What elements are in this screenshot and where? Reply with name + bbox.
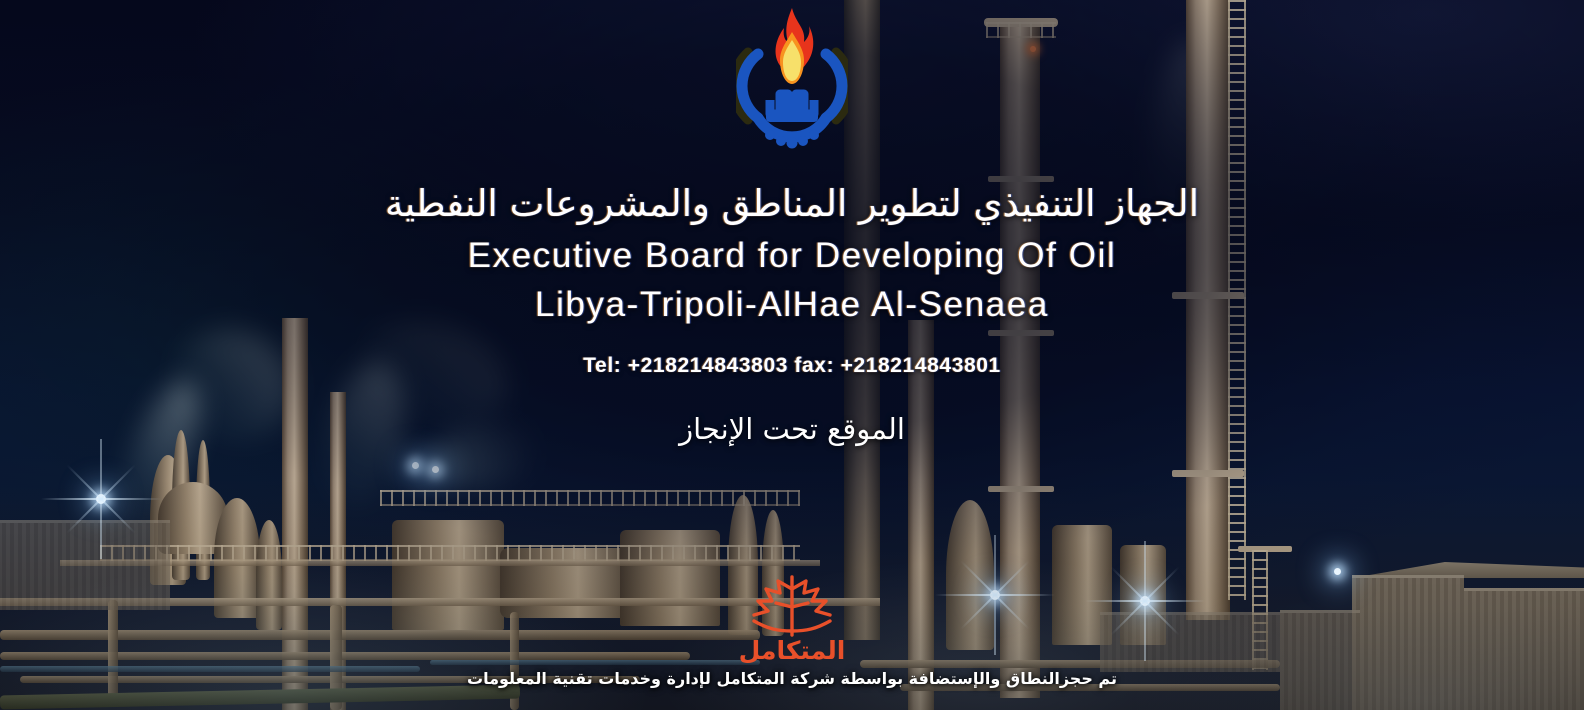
footer-zone: المتكامل تم حجزالنطاق والإستضافة بواسطة … — [0, 573, 1584, 688]
under-construction-message: الموقع تحت الإنجاز — [679, 412, 905, 446]
contact-phone-fax: Tel: +218214843803 fax: +218214843801 — [583, 354, 1001, 378]
noc-libya-flame-logo — [736, 2, 848, 162]
organization-name-arabic: الجهاز التنفيذي لتطوير المناطق والمشروعا… — [0, 182, 1584, 226]
al-mutakamel-logo: المتكامل — [732, 573, 852, 665]
svg-text:المتكامل: المتكامل — [739, 636, 846, 665]
hosting-credit: تم حجزالنطاق والإستضافة بواسطة شركة المت… — [467, 669, 1117, 688]
under-construction-page: الجهاز التنفيذي لتطوير المناطق والمشروعا… — [0, 0, 1584, 710]
headings-block: الجهاز التنفيذي لتطوير المناطق والمشروعا… — [0, 182, 1584, 328]
organization-name-english-line1: Executive Board for Developing Of Oil — [0, 232, 1584, 279]
page-content: الجهاز التنفيذي لتطوير المناطق والمشروعا… — [0, 0, 1584, 710]
organization-address-english: Libya-Tripoli-AlHae Al-Senaea — [0, 281, 1584, 328]
